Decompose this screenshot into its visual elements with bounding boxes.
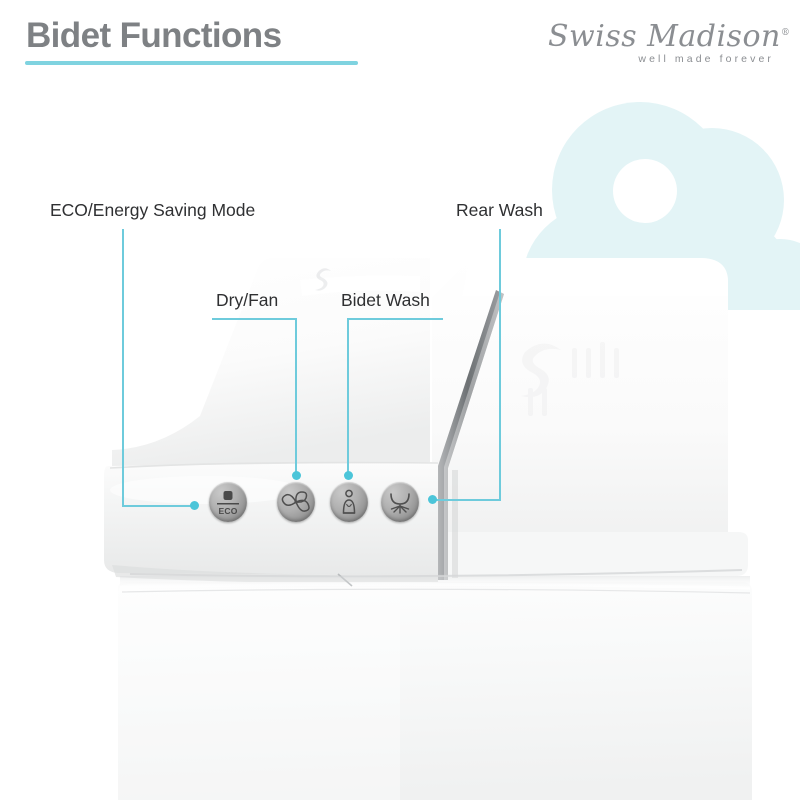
leader-line-bidet-wash-vertical bbox=[347, 318, 349, 475]
leader-dot-bidet-wash bbox=[344, 471, 353, 480]
leader-line-eco-vertical bbox=[122, 229, 124, 507]
brand-logo-wordmark: Swiss Madison® bbox=[548, 18, 778, 52]
callout-label-dry-fan: Dry/Fan bbox=[216, 290, 278, 311]
registered-trademark-icon: ® bbox=[781, 28, 790, 38]
page-title: Bidet Functions bbox=[26, 15, 281, 57]
button-eco-energy-saving[interactable]: ECO bbox=[209, 482, 247, 522]
button-bidet-wash[interactable] bbox=[330, 482, 368, 522]
infographic-page: Bidet Functions Swiss Madison® well made… bbox=[0, 0, 800, 800]
button-dry-fan[interactable] bbox=[277, 482, 315, 522]
leader-line-rear-wash-horizontal bbox=[432, 499, 501, 501]
leader-dot-eco bbox=[190, 501, 199, 510]
leader-dot-dry-fan bbox=[292, 471, 301, 480]
leader-line-eco-horizontal bbox=[122, 505, 194, 507]
eco-button-label: ECO bbox=[218, 506, 237, 516]
leader-line-rear-wash-vertical bbox=[499, 229, 501, 501]
title-underline-rule bbox=[25, 61, 358, 65]
leader-line-dry-fan-vertical bbox=[295, 318, 297, 475]
callout-label-rear-wash: Rear Wash bbox=[456, 200, 543, 221]
leader-line-bidet-wash-horizontal bbox=[347, 318, 443, 320]
button-rear-wash[interactable] bbox=[381, 482, 419, 522]
callout-label-bidet-wash: Bidet Wash bbox=[341, 290, 430, 311]
brand-tagline: well made forever bbox=[548, 53, 774, 65]
leader-line-dry-fan-horizontal bbox=[212, 318, 296, 320]
leader-dot-rear-wash bbox=[428, 495, 437, 504]
rear-spray-icon bbox=[381, 482, 419, 522]
seated-figure-icon bbox=[330, 482, 368, 522]
brand-name-text: Swiss Madison bbox=[548, 19, 781, 54]
fan-icon bbox=[277, 482, 315, 522]
eco-icon: ECO bbox=[209, 482, 247, 522]
brand-logo: Swiss Madison® well made forever bbox=[548, 18, 778, 65]
callout-label-eco: ECO/Energy Saving Mode bbox=[50, 200, 255, 221]
